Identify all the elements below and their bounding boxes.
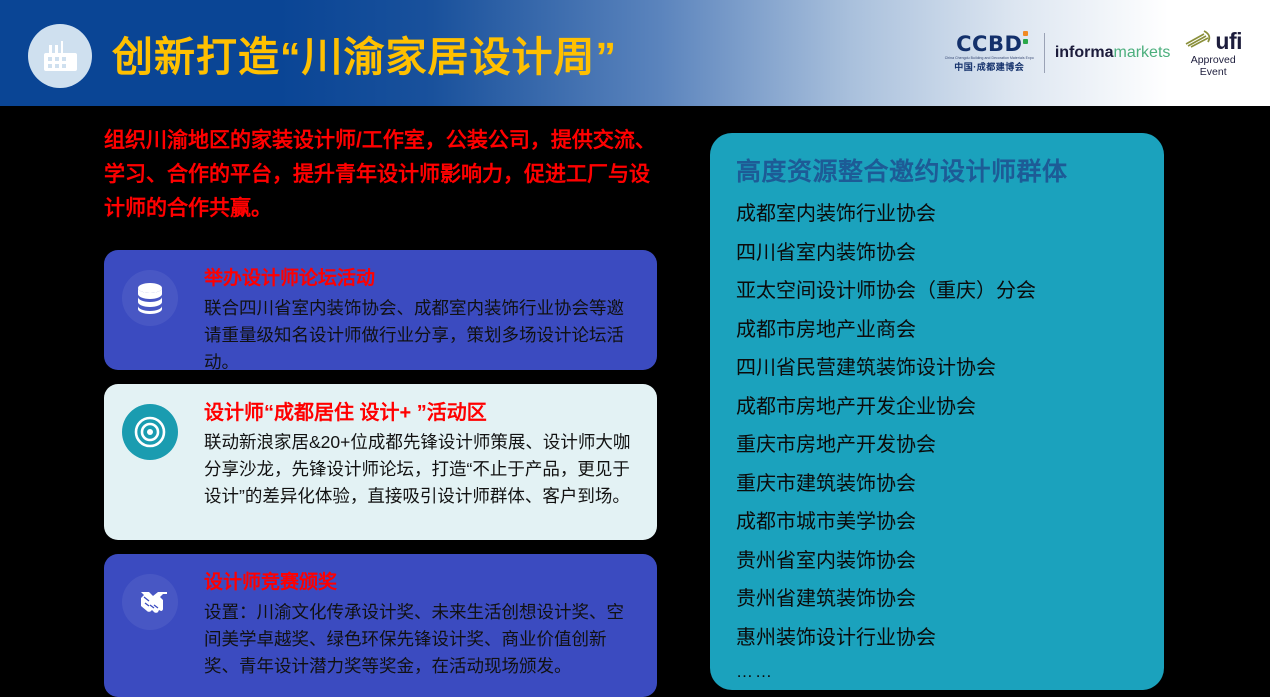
ufi-swoosh-icon bbox=[1184, 28, 1214, 53]
logo-lockup: CCBD China Chengdu Building and Decorati… bbox=[945, 26, 1242, 80]
card-designer-competition-award[interactable]: 设计师竞赛颁奖 设置：川渝文化传承设计奖、未来生活创想设计奖、空间美学卓越奖、绿… bbox=[104, 554, 657, 697]
lead-paragraph: 组织川渝地区的家装设计师/工作室，公装公司，提供交流、学习、合作的平台，提升青年… bbox=[104, 124, 660, 226]
list-item: 贵州省建筑装饰协会 bbox=[736, 580, 1138, 619]
factory-building-icon bbox=[28, 24, 92, 88]
card-description: 设置：川渝文化传承设计奖、未来生活创想设计奖、空间美学卓越奖、绿色环保先锋设计奖… bbox=[204, 599, 641, 680]
logo-divider bbox=[1044, 33, 1045, 73]
card-description: 联合四川省室内装饰协会、成都室内装饰行业协会等邀请重量级知名设计师做行业分享，策… bbox=[204, 295, 641, 376]
list-item: 重庆市建筑装饰协会 bbox=[736, 465, 1138, 504]
slide-root: 创新打造“川渝家居设计周” CCBD China Chengdu Buildin… bbox=[0, 0, 1270, 697]
list-item: …… bbox=[736, 657, 1138, 687]
ufi-approved-event-logo: ufi Approved Event bbox=[1184, 28, 1242, 79]
list-item: 重庆市房地产开发协会 bbox=[736, 426, 1138, 465]
ufi-approved-label: Approved bbox=[1191, 54, 1236, 66]
card-designer-forum[interactable]: 举办设计师论坛活动 联合四川省室内装饰协会、成都室内装饰行业协会等邀请重量级知名… bbox=[104, 250, 657, 370]
ccbd-accent-dot-orange bbox=[1023, 31, 1028, 36]
list-item: 四川省室内装饰协会 bbox=[736, 234, 1138, 273]
ufi-event-label: Event bbox=[1200, 66, 1227, 78]
card-chengdu-living-design-zone[interactable]: 设计师“成都居住 设计+ ”活动区 联动新浪家居&20+位成都先锋设计师策展、设… bbox=[104, 384, 657, 540]
database-stack-icon bbox=[122, 270, 178, 326]
card-title: 举办设计师论坛活动 bbox=[204, 266, 641, 292]
card-description: 联动新浪家居&20+位成都先锋设计师策展、设计师大咖分享沙龙，先锋设计师论坛，打… bbox=[204, 429, 641, 510]
list-item: 四川省民营建筑装饰设计协会 bbox=[736, 349, 1138, 388]
target-bullseye-icon bbox=[122, 404, 178, 460]
associations-panel-title: 高度资源整合邀约设计师群体 bbox=[736, 155, 1138, 189]
list-item: 惠州装饰设计行业协会 bbox=[736, 619, 1138, 658]
ufi-wordmark: ufi bbox=[1215, 28, 1242, 54]
associations-panel: 高度资源整合邀约设计师群体 成都室内装饰行业协会四川省室内装饰协会亚太空间设计师… bbox=[710, 133, 1164, 690]
card-title: 设计师“成都居住 设计+ ”活动区 bbox=[204, 400, 641, 426]
list-item: 成都市房地产开发企业协会 bbox=[736, 388, 1138, 427]
card-title: 设计师竞赛颁奖 bbox=[204, 570, 641, 596]
ccbd-logo: CCBD China Chengdu Building and Decorati… bbox=[945, 34, 1034, 71]
associations-list: 成都室内装饰行业协会四川省室内装饰协会亚太空间设计师协会（重庆）分会成都市房地产… bbox=[736, 195, 1138, 687]
markets-word: markets bbox=[1113, 45, 1170, 61]
informa-markets-logo: informa markets bbox=[1055, 45, 1171, 61]
handshake-icon bbox=[122, 574, 178, 630]
list-item: 亚太空间设计师协会（重庆）分会 bbox=[736, 272, 1138, 311]
ccbd-accent-dot-green bbox=[1023, 39, 1028, 44]
page-title: 创新打造“川渝家居设计周” bbox=[112, 33, 617, 81]
list-item: 成都室内装饰行业协会 bbox=[736, 195, 1138, 234]
slide-header: 创新打造“川渝家居设计周” CCBD China Chengdu Buildin… bbox=[0, 0, 1270, 106]
ccbd-tagline: China Chengdu Building and Decoration Ma… bbox=[945, 57, 1034, 60]
ccbd-wordmark: CCBD bbox=[956, 34, 1022, 55]
list-item: 贵州省室内装饰协会 bbox=[736, 542, 1138, 581]
ccbd-chinese-name: 中国·成都建博会 bbox=[954, 63, 1024, 72]
list-item: 成都市房地产业商会 bbox=[736, 311, 1138, 350]
list-item: 成都市城市美学协会 bbox=[736, 503, 1138, 542]
informa-word: informa bbox=[1055, 45, 1114, 61]
